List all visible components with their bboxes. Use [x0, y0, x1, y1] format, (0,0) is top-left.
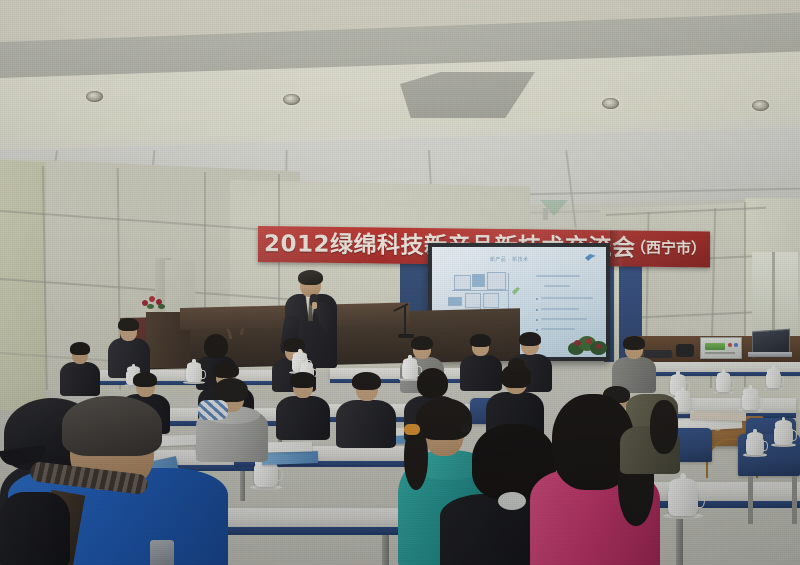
- attendee-dark-mid2: [336, 372, 396, 444]
- blue-folder[interactable]: [262, 451, 318, 465]
- slide-diagram-box: [483, 293, 499, 308]
- lidded-teacup[interactable]: [668, 478, 698, 516]
- laptop-base[interactable]: [748, 352, 792, 357]
- slide-pointer-icon: [512, 287, 520, 295]
- slide-diagram-box: [487, 272, 506, 290]
- table-leg: [240, 471, 245, 501]
- attendee-dark-mid: [276, 372, 330, 434]
- table-edge: [640, 501, 800, 508]
- table-leg: [382, 535, 389, 565]
- potted-plant: [566, 336, 610, 362]
- downlight-icon: [86, 91, 103, 102]
- downlight-icon: [602, 98, 619, 109]
- slide-title-text: 新产品 · 新技术: [490, 256, 528, 263]
- attendee-dark-left-edge: [60, 344, 100, 394]
- downlight-icon: [283, 94, 300, 105]
- photo-scene: 2012绿绵科技新产品新技术交流会 （西宁市） 新产品 · 新技术: [0, 0, 800, 565]
- slide-diagram-box: [472, 274, 485, 287]
- presenter-hair: [298, 270, 323, 285]
- attendee-right-partial: [620, 400, 680, 470]
- slide-logo-icon: [585, 254, 596, 261]
- lidded-teacup[interactable]: [716, 372, 731, 392]
- hair-bun: [508, 358, 525, 372]
- slide-diagram-box: [465, 293, 481, 308]
- table-row-front-right: [640, 482, 800, 502]
- attendee-left-edge-front: [0, 492, 70, 565]
- flower-arrangement: [142, 296, 168, 311]
- downlight-icon: [752, 100, 769, 111]
- microphone-stand: [404, 306, 406, 336]
- chair-leg: [748, 476, 753, 524]
- lidded-teacup[interactable]: [742, 388, 759, 410]
- black-equipment-box: [676, 344, 694, 357]
- lidded-teacup[interactable]: [766, 368, 781, 388]
- slide-diagram-box: [448, 297, 462, 306]
- demo-instrument-device[interactable]: [700, 337, 742, 359]
- banner-city-text: （西宁市）: [631, 235, 706, 262]
- hair-tie: [404, 424, 420, 435]
- lidded-teacup[interactable]: [774, 420, 793, 445]
- mobile-phone[interactable]: [150, 540, 174, 565]
- hair-clip: [498, 492, 526, 510]
- attendee-olive-right-back: [628, 330, 666, 370]
- lidded-teacup[interactable]: [746, 432, 764, 455]
- chair-leg: [792, 476, 797, 524]
- presenter-hand: [312, 302, 317, 309]
- banner-fold: [610, 230, 622, 266]
- slide-diagram-box: [454, 275, 471, 290]
